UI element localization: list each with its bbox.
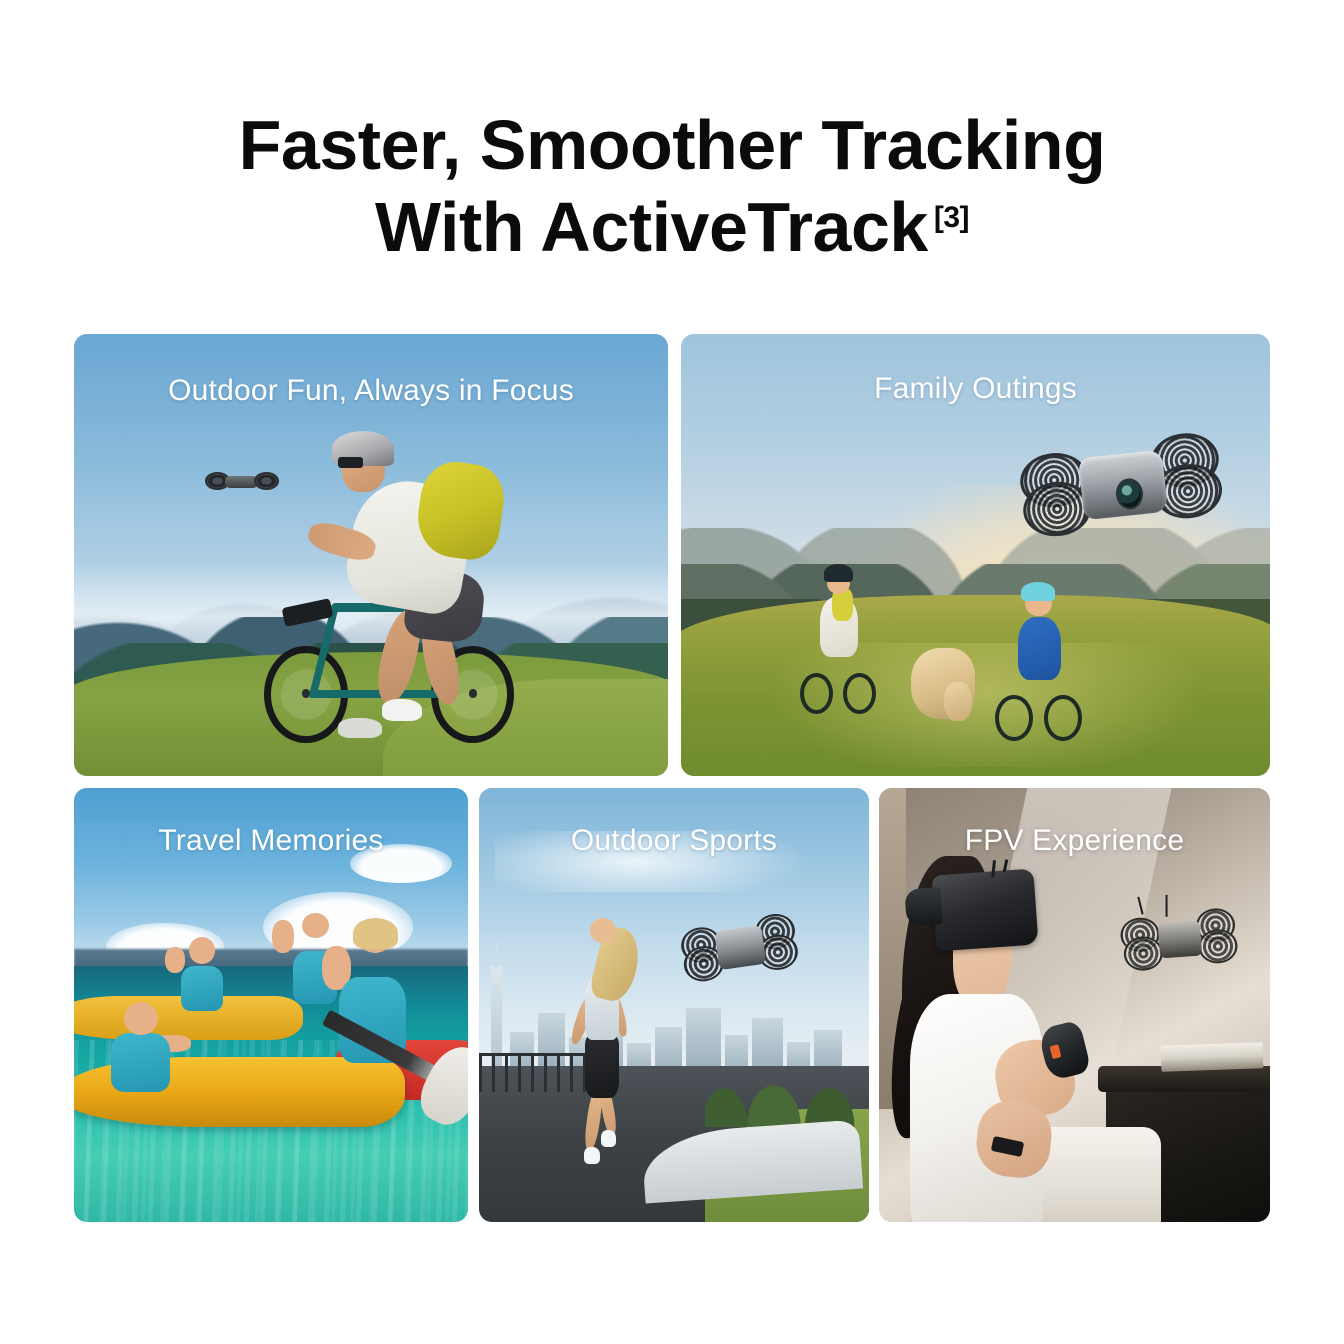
bicycle-helmet [1021, 582, 1055, 601]
drone-body [1158, 920, 1203, 958]
card-outdoor-fun[interactable]: Outdoor Fun, Always in Focus [74, 334, 668, 776]
sunglasses-icon [338, 457, 363, 468]
card-fpv-experience[interactable]: FPV Experience [879, 788, 1270, 1222]
waving-arm [165, 947, 185, 974]
bicycle-wheel [800, 673, 833, 714]
fpv-goggles [931, 868, 1038, 951]
card-travel-memories[interactable]: Travel Memories [74, 788, 468, 1222]
tree-line [705, 1083, 869, 1126]
life-vest [181, 966, 224, 1011]
scene-fpv-indoor [879, 788, 1270, 1222]
kayaker-head [189, 937, 216, 964]
use-case-card-grid: Outdoor Fun, Always in Focus [74, 334, 1270, 1222]
scene-family-cycling [681, 334, 1270, 776]
drone-icon [1119, 905, 1240, 974]
dog-figure [911, 648, 976, 719]
running-shoe [601, 1130, 617, 1147]
scene-running [479, 788, 869, 1222]
page-title-line-1: Faster, Smoother Tracking [0, 104, 1344, 186]
page-title-line-2: With ActiveTrack[3] [0, 186, 1344, 268]
card-outdoor-sports[interactable]: Outdoor Sports [479, 788, 869, 1222]
waving-arm [272, 920, 295, 952]
running-shoe [584, 1147, 600, 1164]
bicycle-hub [469, 689, 477, 697]
child-kayaker-figure [98, 996, 185, 1091]
antenna-icon [1003, 859, 1009, 872]
activetrack-feature-page: Faster, Smoother Tracking With ActiveTra… [0, 0, 1344, 1344]
running-shorts [585, 1035, 619, 1098]
scene-kayaking [74, 788, 468, 1222]
card-family-outings[interactable]: Family Outings [681, 334, 1270, 776]
rider-shoe [382, 699, 422, 721]
cyclist-figure [258, 431, 567, 749]
runner-figure [565, 918, 643, 1161]
antenna-icon [991, 860, 996, 877]
adult-cyclist-figure [799, 564, 881, 714]
bicycle-helmet [824, 564, 854, 582]
rider-shoe [338, 718, 381, 739]
drone-body [714, 925, 766, 970]
child-cyclist-figure [993, 582, 1087, 741]
book-stack [1160, 1042, 1263, 1072]
cloud [495, 831, 846, 892]
kayaker-head [124, 1002, 159, 1035]
kayaker-head [302, 913, 329, 939]
page-title: Faster, Smoother Tracking With ActiveTra… [0, 104, 1344, 268]
kayaker-hair [353, 918, 398, 949]
fpv-pilot-figure [902, 849, 1098, 1222]
footnote-marker: [3] [934, 201, 969, 234]
scene-mountain-biking [74, 334, 668, 776]
bicycle-wheel [995, 695, 1033, 741]
cyclist-torso [1018, 617, 1061, 681]
page-title-line-2-text: With ActiveTrack [375, 188, 928, 266]
bicycle-wheel [843, 673, 876, 714]
bicycle-wheel [1044, 695, 1082, 741]
life-vest [111, 1033, 170, 1092]
